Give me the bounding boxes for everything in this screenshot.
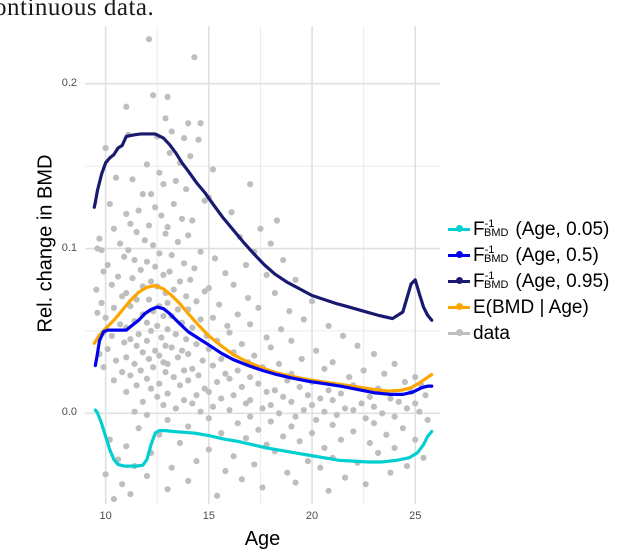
- data-point: [175, 239, 181, 245]
- legend-key-icon: [448, 323, 470, 343]
- data-point: [288, 338, 294, 344]
- data-point: [412, 374, 418, 380]
- data-point: [412, 400, 418, 406]
- data-point: [375, 450, 381, 456]
- data-point: [191, 54, 197, 60]
- data-point: [111, 226, 117, 232]
- data-point: [280, 433, 286, 439]
- data-point: [231, 392, 237, 398]
- x-tick-label: 10: [86, 510, 126, 522]
- data-point: [268, 240, 274, 246]
- data-point: [278, 326, 284, 332]
- data-point: [123, 354, 129, 360]
- data-point: [164, 94, 170, 100]
- data-point: [158, 334, 164, 340]
- data-point: [127, 491, 133, 497]
- data-point: [164, 300, 170, 306]
- data-point: [286, 308, 292, 314]
- data-point: [152, 204, 158, 210]
- data-point: [412, 437, 418, 443]
- data-point: [379, 410, 385, 416]
- data-point: [140, 191, 146, 197]
- data-point: [136, 208, 142, 214]
- data-point: [216, 301, 222, 307]
- data-point: [133, 382, 139, 388]
- data-point: [288, 423, 294, 429]
- legend-item[interactable]: data: [448, 320, 640, 346]
- data-point: [100, 268, 106, 274]
- data-point: [146, 356, 152, 362]
- data-point: [127, 372, 133, 378]
- data-point: [340, 333, 346, 339]
- data-point: [222, 468, 228, 474]
- data-point: [330, 397, 336, 403]
- data-point: [402, 379, 408, 385]
- data-point: [164, 224, 170, 230]
- data-point: [169, 128, 175, 134]
- data-point: [321, 445, 327, 451]
- data-point: [140, 399, 146, 405]
- data-point: [197, 316, 203, 322]
- data-point: [158, 212, 164, 218]
- data-point: [274, 217, 280, 223]
- data-point: [321, 409, 327, 415]
- data-point: [400, 425, 406, 431]
- data-point: [226, 407, 232, 413]
- data-point: [129, 176, 135, 182]
- data-point: [309, 402, 315, 408]
- data-point: [268, 418, 274, 424]
- data-point: [255, 381, 261, 387]
- data-point: [181, 260, 187, 266]
- data-point: [185, 351, 191, 357]
- legend-key-icon: [448, 271, 470, 291]
- data-point: [171, 374, 177, 380]
- data-point: [142, 237, 148, 243]
- legend-item[interactable]: E(BMD | Age): [448, 294, 640, 320]
- data-point: [272, 387, 278, 393]
- legend-label: F-1BMD(Age, 0.05): [473, 220, 609, 239]
- data-point: [162, 369, 168, 375]
- data-point: [144, 376, 150, 382]
- data-point: [321, 366, 327, 372]
- data-point: [144, 338, 150, 344]
- data-point: [171, 287, 177, 293]
- data-point: [212, 255, 218, 261]
- y-tick-label: 0.1: [37, 242, 77, 254]
- data-point: [160, 313, 166, 319]
- data-point: [301, 407, 307, 413]
- data-point: [185, 232, 191, 238]
- data-point: [206, 447, 212, 453]
- data-point: [164, 361, 170, 367]
- data-point: [119, 293, 125, 299]
- data-point: [264, 389, 270, 395]
- data-point: [103, 471, 109, 477]
- data-point: [144, 412, 150, 418]
- data-point: [276, 361, 282, 367]
- data-point: [210, 404, 216, 410]
- data-point: [391, 414, 397, 420]
- data-point: [179, 348, 185, 354]
- data-point: [218, 395, 224, 401]
- data-point: [160, 272, 166, 278]
- data-point: [280, 394, 286, 400]
- data-point: [210, 315, 216, 321]
- data-point: [100, 364, 106, 370]
- data-point: [259, 405, 265, 411]
- data-point: [150, 242, 156, 248]
- data-point: [231, 453, 237, 459]
- data-point: [268, 402, 274, 408]
- data-point: [245, 295, 251, 301]
- data-point: [123, 389, 129, 395]
- data-point: [173, 405, 179, 411]
- data-point: [177, 382, 183, 388]
- data-point: [325, 323, 331, 329]
- data-point: [195, 137, 201, 143]
- data-point: [210, 166, 216, 172]
- data-point: [123, 211, 129, 217]
- x-tick-label: 15: [189, 510, 229, 522]
- data-point: [107, 201, 113, 207]
- data-point: [144, 161, 150, 167]
- data-point: [243, 400, 249, 406]
- data-point: [169, 465, 175, 471]
- data-point: [127, 336, 133, 342]
- data-point: [164, 417, 170, 423]
- data-point: [288, 399, 294, 405]
- data-point: [156, 353, 162, 359]
- data-point: [111, 305, 117, 311]
- data-point: [183, 186, 189, 192]
- data-point: [138, 367, 144, 373]
- data-point: [144, 473, 150, 479]
- data-point: [264, 334, 270, 340]
- data-point: [162, 231, 168, 237]
- data-point: [309, 430, 315, 436]
- data-point: [363, 481, 369, 487]
- data-point: [247, 414, 253, 420]
- data-point: [197, 249, 203, 255]
- data-point: [183, 293, 189, 299]
- chart-legend: F-1BMD(Age, 0.05)F-1BMD(Age, 0.5)F-1BMD(…: [448, 216, 640, 346]
- legend-key-icon: [448, 219, 470, 239]
- data-point: [255, 427, 261, 433]
- x-tick-label: 20: [292, 510, 332, 522]
- data-point: [200, 358, 206, 364]
- data-point: [367, 394, 373, 400]
- data-point: [171, 201, 177, 207]
- data-point: [292, 414, 298, 420]
- data-point: [160, 181, 166, 187]
- data-point: [191, 265, 197, 271]
- data-point: [185, 423, 191, 429]
- data-point: [251, 353, 257, 359]
- data-point: [235, 367, 241, 373]
- data-point: [226, 376, 232, 382]
- data-point: [109, 333, 115, 339]
- data-point: [276, 410, 282, 416]
- data-point: [187, 277, 193, 283]
- data-point: [361, 367, 367, 373]
- data-point: [175, 306, 181, 312]
- data-point: [173, 178, 179, 184]
- data-point: [313, 348, 319, 354]
- data-point: [218, 356, 224, 362]
- data-point: [383, 432, 389, 438]
- data-point: [257, 226, 263, 232]
- data-point: [119, 369, 125, 375]
- data-point: [255, 305, 261, 311]
- data-point: [181, 367, 187, 373]
- data-point: [185, 478, 191, 484]
- data-point: [152, 348, 158, 354]
- data-point: [156, 381, 162, 387]
- data-point: [280, 257, 286, 263]
- data-point: [371, 420, 377, 426]
- data-point: [239, 476, 245, 482]
- data-point: [183, 336, 189, 342]
- data-point: [129, 275, 135, 281]
- data-point: [175, 354, 181, 360]
- data-point: [313, 417, 319, 423]
- data-point: [123, 443, 129, 449]
- data-point: [119, 481, 125, 487]
- data-point: [305, 458, 311, 464]
- data-point: [292, 277, 298, 283]
- data-point: [98, 300, 104, 306]
- data-point: [247, 321, 253, 327]
- data-point: [103, 145, 109, 151]
- data-point: [162, 343, 168, 349]
- data-point: [189, 325, 195, 331]
- data-point: [202, 198, 208, 204]
- data-point: [162, 115, 168, 121]
- data-point: [425, 417, 431, 423]
- data-point: [189, 217, 195, 223]
- data-point: [224, 323, 230, 329]
- y-tick-label: 0.0: [37, 406, 77, 418]
- data-point: [387, 470, 393, 476]
- data-point: [177, 440, 183, 446]
- data-point: [146, 297, 152, 303]
- data-point: [169, 252, 175, 258]
- data-point: [197, 409, 203, 415]
- data-point: [371, 351, 377, 357]
- data-point: [113, 175, 119, 181]
- x-tick-label: 25: [395, 510, 435, 522]
- data-point: [342, 405, 348, 411]
- data-point: [148, 328, 154, 334]
- data-point: [121, 254, 127, 260]
- data-point: [150, 364, 156, 370]
- data-point: [185, 377, 191, 383]
- data-point: [138, 267, 144, 273]
- data-point: [148, 278, 154, 284]
- data-point: [121, 339, 127, 345]
- data-point: [93, 287, 99, 293]
- data-point: [272, 290, 278, 296]
- data-point: [210, 362, 216, 368]
- data-point: [391, 361, 397, 367]
- data-point: [111, 377, 117, 383]
- data-point: [381, 371, 387, 377]
- data-point: [189, 400, 195, 406]
- data-point: [367, 440, 373, 446]
- data-point: [133, 229, 139, 235]
- legend-item[interactable]: F-1BMD(Age, 0.5): [448, 242, 640, 268]
- data-point: [144, 320, 150, 326]
- data-point: [109, 282, 115, 288]
- y-tick-label: 0.2: [37, 77, 77, 89]
- data-point: [115, 273, 121, 279]
- data-point: [239, 384, 245, 390]
- data-point: [105, 346, 111, 352]
- data-point: [334, 412, 340, 418]
- data-point: [123, 104, 129, 110]
- data-point: [148, 386, 154, 392]
- data-point: [148, 191, 154, 197]
- data-point: [226, 329, 232, 335]
- legend-label: F-1BMD(Age, 0.95): [473, 272, 609, 291]
- data-point: [235, 420, 241, 426]
- data-point: [387, 395, 393, 401]
- data-point: [179, 216, 185, 222]
- data-point: [325, 488, 331, 494]
- legend-label: F-1BMD(Age, 0.5): [473, 246, 599, 265]
- data-point: [156, 250, 162, 256]
- data-point: [350, 428, 356, 434]
- data-point: [181, 397, 187, 403]
- data-point: [164, 326, 170, 332]
- data-point: [133, 343, 139, 349]
- data-point: [189, 366, 195, 372]
- data-point: [358, 400, 364, 406]
- data-point: [422, 392, 428, 398]
- data-point: [173, 331, 179, 337]
- data-point: [105, 262, 111, 268]
- data-point: [243, 262, 249, 268]
- data-point: [156, 170, 162, 176]
- data-point: [206, 415, 212, 421]
- legend-key-icon: [448, 245, 470, 265]
- data-point: [235, 311, 241, 317]
- data-point: [338, 437, 344, 443]
- data-point: [299, 356, 305, 362]
- data-point: [127, 221, 133, 227]
- legend-label: data: [473, 324, 510, 343]
- data-point: [346, 374, 352, 380]
- data-point: [247, 374, 253, 380]
- data-point: [164, 390, 170, 396]
- data-point: [117, 321, 123, 327]
- data-point: [144, 259, 150, 265]
- data-point: [350, 407, 356, 413]
- data-point: [146, 36, 152, 42]
- data-point: [181, 135, 187, 141]
- data-point: [94, 310, 100, 316]
- data-point: [292, 479, 298, 485]
- data-point: [206, 389, 212, 395]
- data-point: [317, 465, 323, 471]
- data-point: [317, 395, 323, 401]
- data-point: [297, 438, 303, 444]
- data-point: [222, 371, 228, 377]
- data-point: [125, 247, 131, 253]
- data-point: [228, 209, 234, 215]
- data-point: [136, 331, 142, 337]
- data-point: [113, 358, 119, 364]
- data-point: [146, 222, 152, 228]
- data-point: [185, 120, 191, 126]
- data-point: [152, 264, 158, 270]
- x-axis-title: Age: [85, 528, 440, 551]
- data-point: [338, 390, 344, 396]
- data-point: [214, 493, 220, 499]
- data-point: [98, 247, 104, 253]
- data-point: [154, 394, 160, 400]
- data-point: [117, 240, 123, 246]
- data-point: [342, 475, 348, 481]
- data-point: [371, 404, 377, 410]
- data-point: [301, 316, 307, 322]
- data-point: [193, 458, 199, 464]
- data-point: [264, 272, 270, 278]
- data-point: [193, 341, 199, 347]
- data-point: [195, 372, 201, 378]
- data-point: [154, 323, 160, 329]
- data-point: [167, 150, 173, 156]
- legend-item[interactable]: F-1BMD(Age, 0.95): [448, 268, 640, 294]
- data-point: [239, 341, 245, 347]
- data-point: [160, 402, 166, 408]
- data-point: [193, 298, 199, 304]
- data-point: [177, 278, 183, 284]
- data-point: [309, 298, 315, 304]
- data-point: [167, 268, 173, 274]
- data-point: [330, 422, 336, 428]
- legend-label: E(BMD | Age): [473, 298, 589, 317]
- data-point: [243, 435, 249, 441]
- legend-key-icon: [448, 297, 470, 317]
- data-point: [391, 445, 397, 451]
- data-point: [404, 463, 410, 469]
- data-point: [150, 92, 156, 98]
- data-point: [131, 409, 137, 415]
- data-point: [363, 415, 369, 421]
- chart-figure: Rel. change in BMD Age 0.00.10.2 1015202…: [0, 0, 640, 559]
- data-point: [404, 405, 410, 411]
- data-point: [193, 392, 199, 398]
- data-point: [103, 315, 109, 321]
- data-point: [420, 455, 426, 461]
- data-point: [247, 181, 253, 187]
- data-point: [169, 344, 175, 350]
- data-point: [259, 484, 265, 490]
- data-point: [218, 430, 224, 436]
- data-point: [131, 361, 137, 367]
- legend-item[interactable]: F-1BMD(Age, 0.05): [448, 216, 640, 242]
- data-point: [111, 496, 117, 502]
- data-point: [354, 343, 360, 349]
- data-point: [330, 359, 336, 365]
- data-point: [140, 349, 146, 355]
- data-point: [164, 486, 170, 492]
- data-point: [396, 399, 402, 405]
- data-point: [214, 379, 220, 385]
- data-point: [197, 120, 203, 126]
